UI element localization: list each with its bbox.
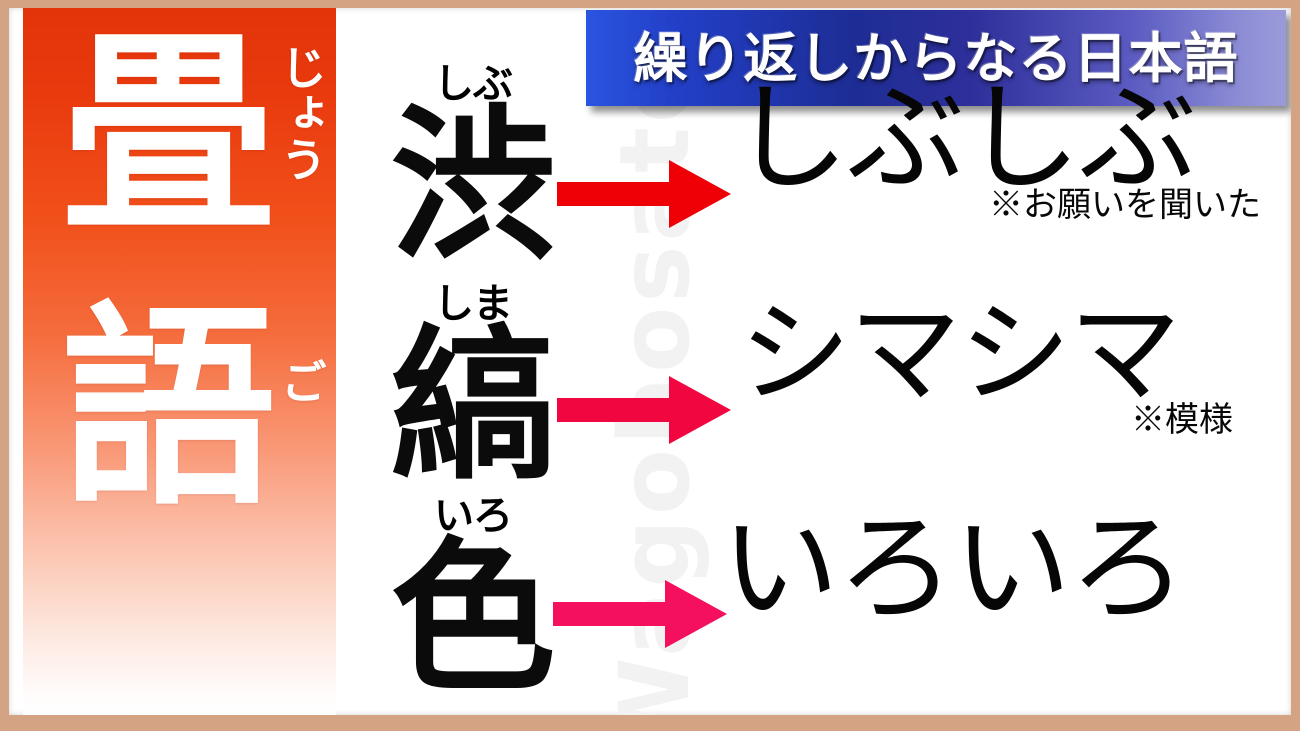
right-arrow-icon: [557, 158, 731, 230]
slide-card: 畳 じょう 語 ご Wagohosato 繰り返しからなる日本語 しぶ 渋: [9, 8, 1291, 715]
jougo-title-panel: 畳 じょう 語 ご: [23, 8, 336, 715]
examples-list: しぶ 渋 しぶしぶ ※お願いを聞いた しま 縞: [339, 8, 1291, 715]
result-block: しぶしぶ ※お願いを聞いた: [731, 72, 1271, 288]
result-word: シマシマ: [739, 292, 1279, 417]
kanji-block: しま 縞: [383, 286, 563, 502]
panel-kanji-tatami: 畳: [61, 26, 276, 241]
slide-root: 畳 じょう 語 ご Wagohosato 繰り返しからなる日本語 しぶ 渋: [0, 0, 1300, 731]
kanji-block: いろ 色: [383, 498, 563, 714]
kanji-block: しぶ 渋: [383, 66, 563, 282]
example-row: しま 縞 シマシマ ※模様: [339, 286, 1291, 502]
example-row: いろ 色 いろいろ: [339, 498, 1291, 714]
panel-furigana-jou: じょう: [276, 44, 324, 182]
result-word: いろいろ: [721, 502, 1261, 634]
right-arrow-icon: [557, 374, 731, 446]
example-row: しぶ 渋 しぶしぶ ※お願いを聞いた: [339, 66, 1291, 282]
kanji-character: 色: [383, 534, 563, 702]
kanji-character: 渋: [383, 102, 563, 270]
panel-furigana-go: ご: [276, 358, 324, 404]
result-block: いろいろ: [721, 502, 1261, 715]
result-block: シマシマ ※模様: [739, 292, 1279, 508]
right-arrow-icon: [553, 578, 721, 650]
panel-kanji-go: 語: [61, 300, 276, 515]
kanji-character: 縞: [383, 322, 563, 490]
